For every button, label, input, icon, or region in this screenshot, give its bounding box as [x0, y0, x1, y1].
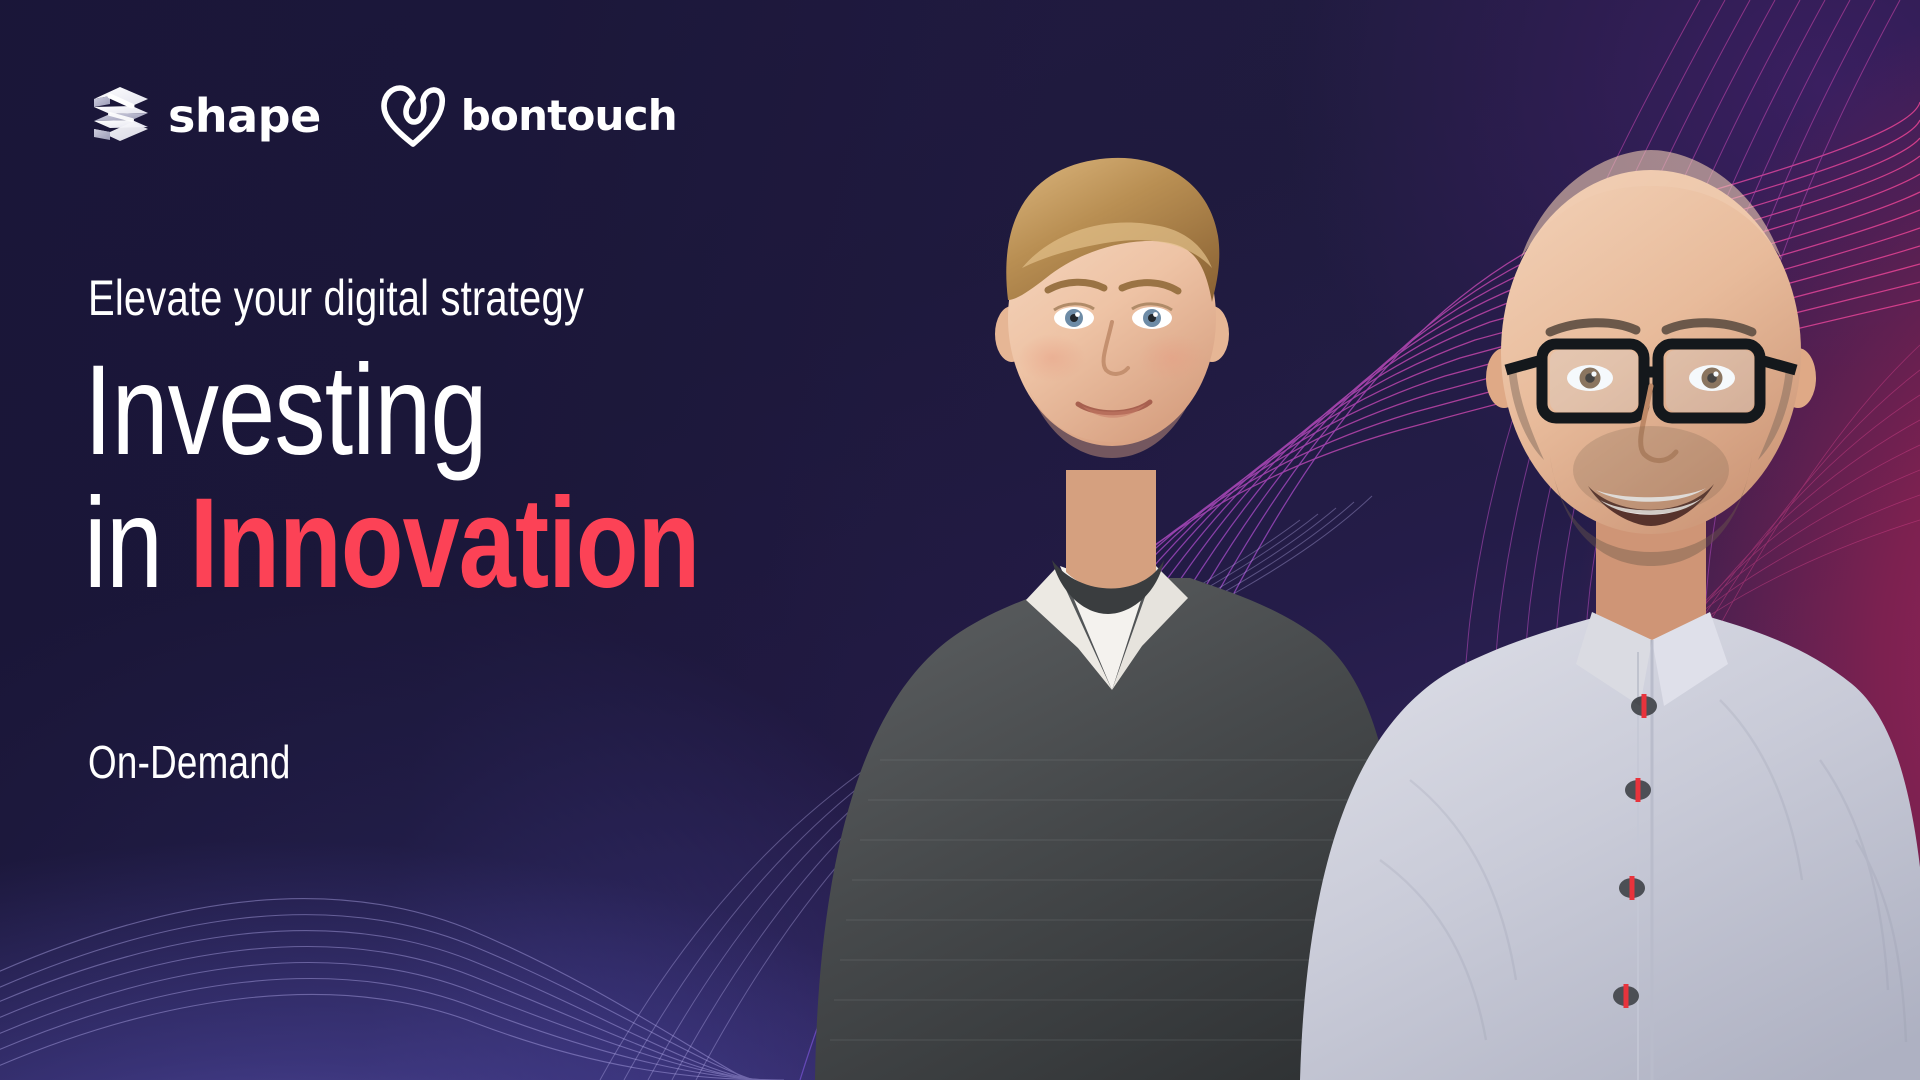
eyebrow-text: Elevate your digital strategy: [88, 272, 584, 325]
bontouch-logo: bontouch: [379, 82, 677, 150]
speaker-right-figure: [1300, 150, 1920, 1080]
shape-mark-icon: [88, 83, 154, 149]
headline-line-1: Investing: [84, 348, 740, 475]
headline-word-in: in: [84, 472, 190, 615]
bontouch-wordmark: bontouch: [461, 95, 677, 137]
bontouch-mark-icon: [379, 82, 447, 150]
speakers-photo: [760, 0, 1920, 1080]
banner-content: shape bontouch Elevate your digital stra…: [0, 0, 900, 1080]
shape-wordmark: shape: [168, 93, 321, 139]
headline-word-innovation: Innovation: [190, 472, 700, 615]
page-title: Investing in Innovation: [84, 348, 904, 607]
headline-line-2: in Innovation: [84, 481, 740, 608]
logo-row: shape bontouch: [88, 82, 677, 150]
webinar-banner: shape bontouch Elevate your digital stra…: [0, 0, 1920, 1080]
shape-logo: shape: [88, 83, 321, 149]
availability-label: On-Demand: [88, 735, 291, 789]
